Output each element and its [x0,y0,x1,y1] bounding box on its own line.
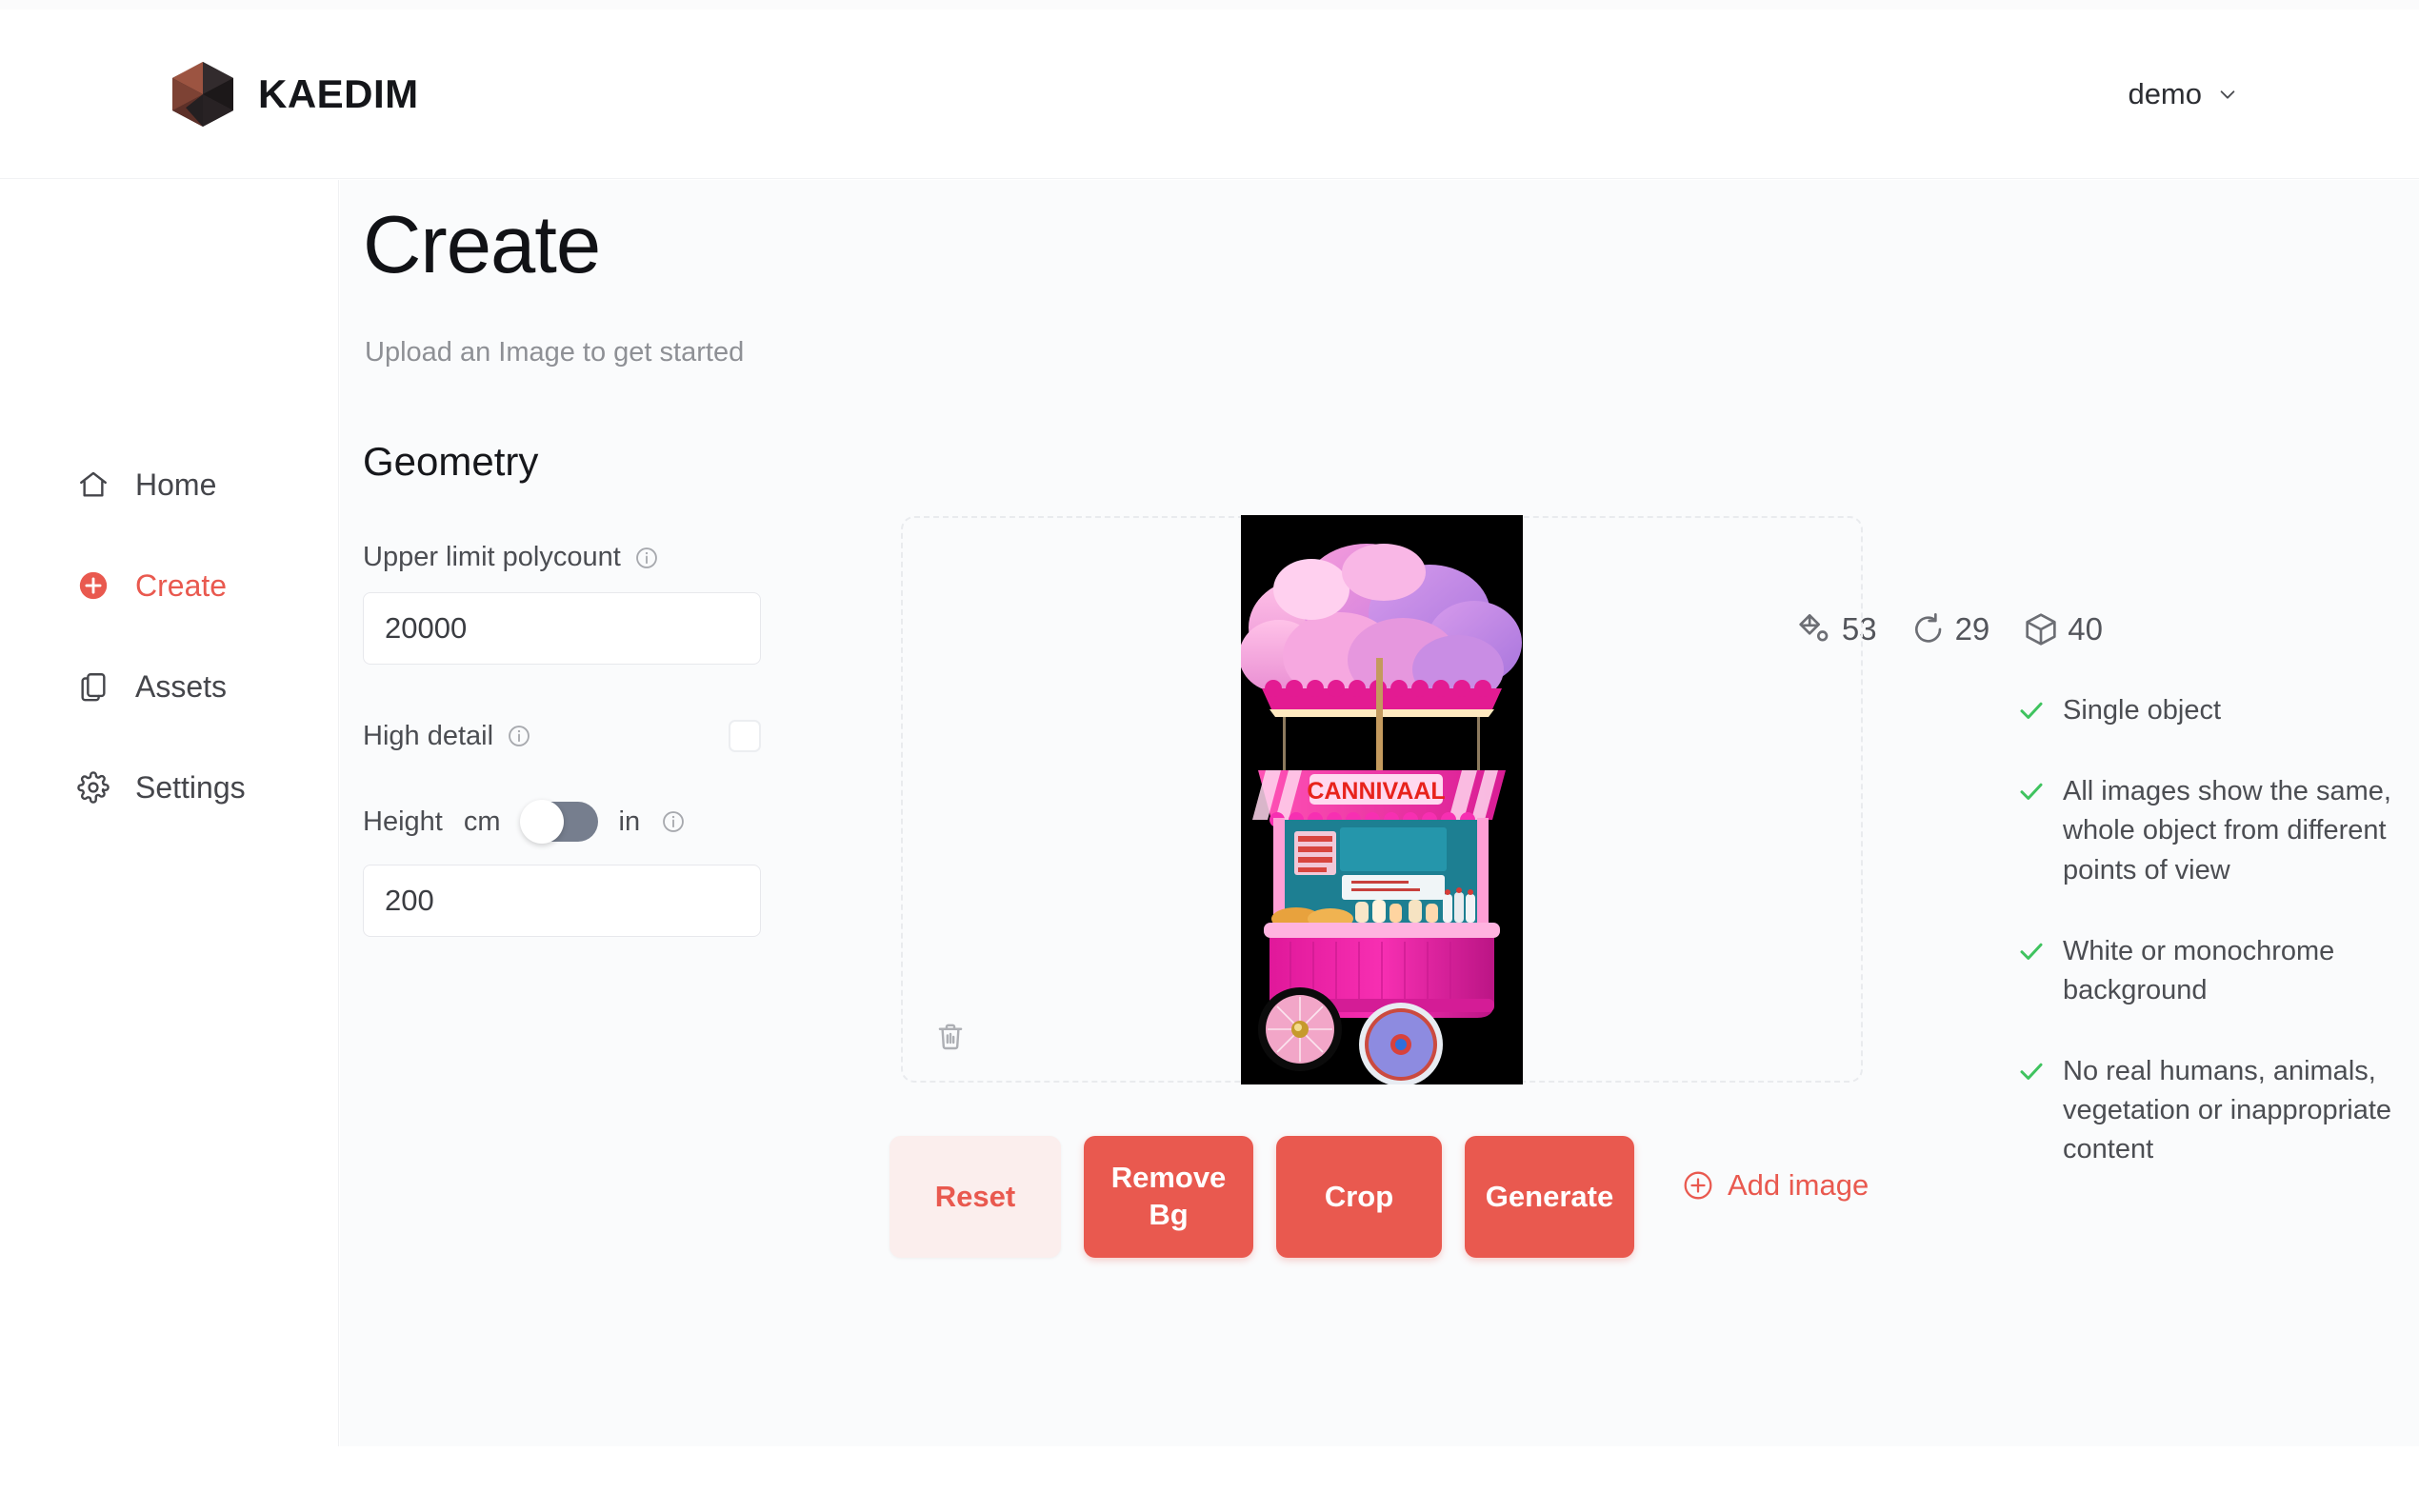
checklist-item-text: No real humans, animals, vegetation or i… [2063,1052,2398,1170]
sidebar-item-label: Settings [135,770,246,806]
sidebar-item-settings[interactable]: Settings [0,762,338,813]
green-check-icon [2017,691,2046,725]
high-detail-row: High detail [363,720,761,752]
copy-pages-icon [76,669,110,704]
unit-cm-label[interactable]: cm [464,806,501,838]
height-unit-toggle[interactable] [522,802,598,842]
add-image-label: Add image [1728,1168,1869,1203]
checklist-item-text: Single object [2063,691,2221,730]
green-check-icon [2017,772,2046,806]
requirements-checklist: Single object All images show the same, … [2017,691,2398,1212]
sidebar: Home Create Assets [0,180,339,1446]
delete-image-button[interactable] [930,1018,971,1060]
height-input[interactable] [363,865,761,937]
plus-circle-outline-icon [1682,1169,1714,1202]
action-buttons: Reset Remove Bg Crop Generate Add image [890,1136,1869,1258]
green-check-icon [2017,932,2046,965]
chevron-down-icon [2217,84,2238,105]
stat-value: 29 [1955,611,1990,647]
gear-icon [76,770,110,805]
polycount-label: Upper limit polycount [363,542,621,573]
sidebar-item-home[interactable]: Home [0,459,338,510]
checklist-item: White or monochrome background [2017,932,2398,1010]
cube-3d-icon [2022,610,2060,648]
trash-icon [933,1020,968,1059]
checklist-item-text: White or monochrome background [2063,932,2398,1010]
cart-sign-text: CANNIVAAL [1307,778,1445,805]
geometry-panel: Geometry Upper limit polycount High deta… [363,439,782,937]
crop-button[interactable]: Crop [1276,1136,1442,1258]
sidebar-item-assets[interactable]: Assets [0,661,338,712]
uploaded-image-thumbnail[interactable]: CANNIVAAL [1241,515,1523,1084]
page-subtitle: Upload an Image to get started [365,337,744,368]
stat-models: 40 [2022,610,2103,648]
high-detail-label-row: High detail [363,721,531,752]
plus-circle-icon [76,568,110,603]
top-band [0,0,2419,10]
checklist-item: All images show the same, whole object f… [2017,772,2398,890]
geometry-section-title: Geometry [363,439,782,485]
high-detail-checkbox[interactable] [729,720,761,752]
polycount-input[interactable] [363,592,761,665]
refresh-rotate-icon [1909,610,1948,648]
account-menu[interactable]: demo [2128,77,2238,111]
green-check-icon [2017,1052,2046,1085]
sidebar-item-label: Home [135,468,216,503]
sidebar-item-label: Create [135,568,227,604]
generate-button[interactable]: Generate [1465,1136,1634,1258]
main-content: Create Upload an Image to get started Ge… [340,180,2419,1446]
height-label: Height [363,806,443,838]
brand[interactable]: KAEDIM [167,58,419,130]
kaedim-hexagon-logo-icon [167,58,239,130]
sidebar-item-label: Assets [135,669,227,705]
stat-value: 40 [2068,611,2103,647]
checklist-item-text: All images show the same, whole object f… [2063,772,2398,890]
brand-name: KAEDIM [258,71,419,117]
page-title: Create [363,205,600,286]
stat-iterations: 29 [1909,610,1990,648]
reset-button[interactable]: Reset [890,1136,1061,1258]
add-image-button[interactable]: Add image [1682,1168,1869,1203]
account-name: demo [2128,77,2202,111]
home-icon [76,468,110,502]
checklist-item: Single object [2017,691,2398,730]
app-root: KAEDIM demo Home [0,0,2419,1512]
info-icon[interactable] [661,809,686,834]
info-icon[interactable] [634,546,659,570]
unit-in-label[interactable]: in [619,806,641,838]
toggle-knob [520,800,564,844]
sidebar-item-create[interactable]: Create [0,560,338,611]
polycount-label-row: Upper limit polycount [363,542,782,573]
bottom-band [0,1446,2419,1512]
high-detail-label: High detail [363,721,493,752]
info-icon[interactable] [507,724,531,748]
checklist-item: No real humans, animals, vegetation or i… [2017,1052,2398,1170]
app-header: KAEDIM demo [0,10,2419,179]
height-unit-row: Height cm in [363,802,782,842]
remove-bg-button[interactable]: Remove Bg [1084,1136,1253,1258]
image-dropzone[interactable]: CANNIVAAL [901,516,1863,1083]
